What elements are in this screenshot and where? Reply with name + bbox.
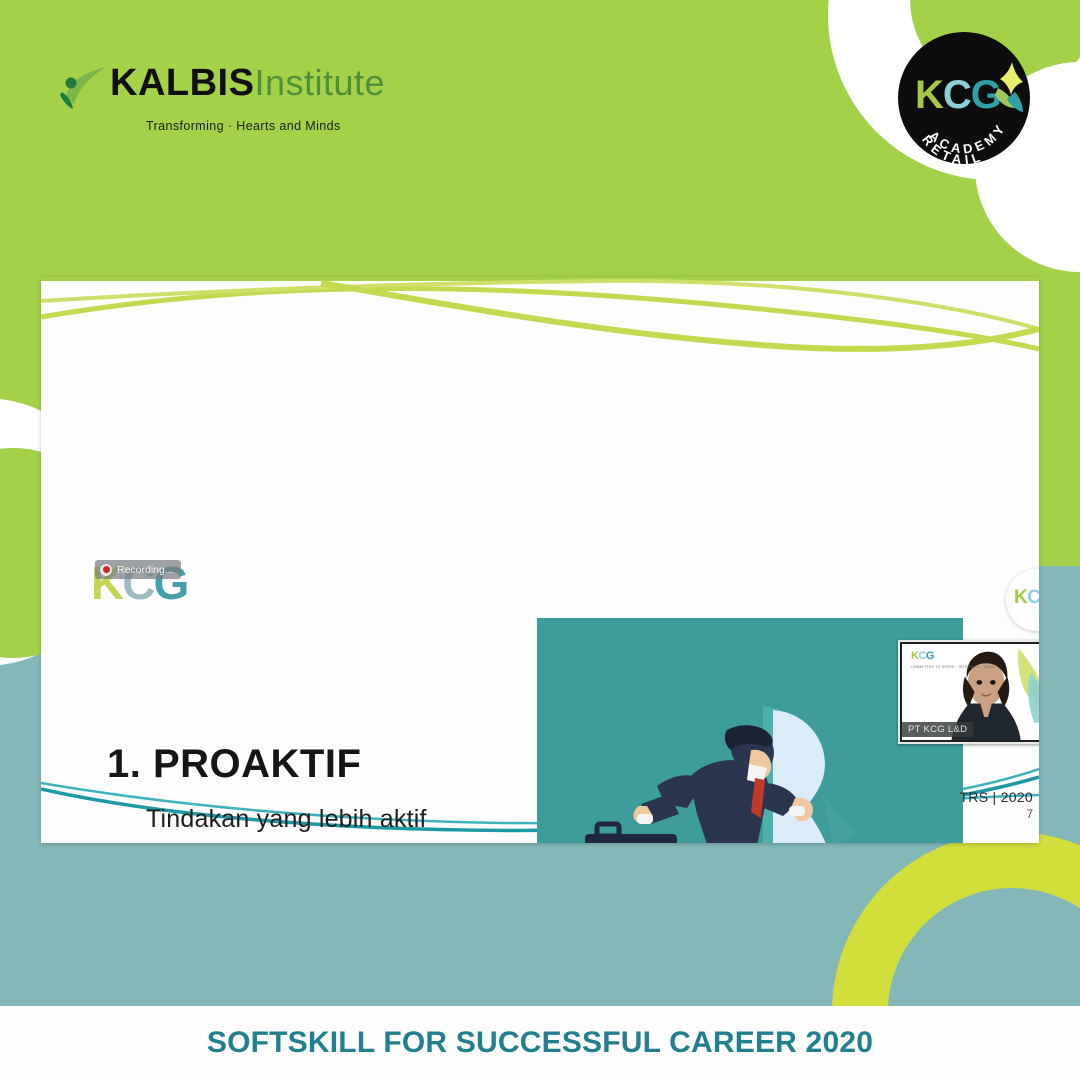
- poster-canvas: KALBISInstitute Transforming · Hearts an…: [0, 0, 1080, 1080]
- kalbis-word-bold: KALBIS: [110, 62, 254, 104]
- recording-indicator[interactable]: Recording...: [95, 560, 181, 579]
- slide-footer-label: TRS | 2020: [959, 789, 1033, 805]
- kalbis-tagline: Transforming · Hearts and Minds: [146, 119, 341, 133]
- caption-bar: SOFTSKILL FOR SUCCESSFUL CAREER 2020: [0, 1006, 1080, 1080]
- kcg-retail-academy-badge: KCG RETAIL ACADEMY: [898, 32, 1030, 164]
- slide-kcg-curved-text: RETAIL ACADEMY: [1006, 569, 1039, 631]
- slide-page-number: 7: [959, 807, 1033, 821]
- webcam-kcg-logo: KCG: [911, 651, 934, 662]
- webcam-video-frame: KCG COMMITTED TO SERVE · INTEGRITY · TEA…: [902, 644, 1039, 740]
- slide-heading: 1. PROAKTIF: [107, 742, 361, 787]
- webcam-video-tile[interactable]: KCG COMMITTED TO SERVE · INTEGRITY · TEA…: [898, 640, 1039, 744]
- kcg-badge-curved-text: RETAIL ACADEMY: [898, 32, 1030, 164]
- slide-kcg-badge: KCG RETAIL ACADEMY: [1006, 569, 1039, 631]
- kalbis-word-light: Institute: [254, 62, 385, 103]
- record-dot-icon: [100, 564, 112, 576]
- recording-label: Recording...: [117, 564, 174, 576]
- caption-title: SOFTSKILL FOR SUCCESSFUL CAREER 2020: [207, 1026, 873, 1060]
- webcam-participant-name: PT KCG L&D: [902, 722, 973, 737]
- webcam-kcg-subtext: COMMITTED TO SERVE · INTEGRITY · TEAM: [911, 665, 994, 669]
- slide-footer: TRS | 2020 7: [959, 789, 1033, 821]
- kalbis-institute-logo: KALBISInstitute Transforming · Hearts an…: [58, 62, 388, 144]
- person-checkmark-icon: [58, 66, 110, 114]
- webcam-kcg-letter-c: C: [918, 650, 925, 662]
- slide-subheading: Tindakan yang lebih aktif: [146, 805, 427, 834]
- kalbis-wordmark: KALBISInstitute: [110, 62, 385, 105]
- presentation-slide[interactable]: KCG Recording... 1. PROAKTIF Tindakan ya…: [41, 277, 1039, 843]
- webcam-kcg-letter-g: G: [926, 650, 934, 662]
